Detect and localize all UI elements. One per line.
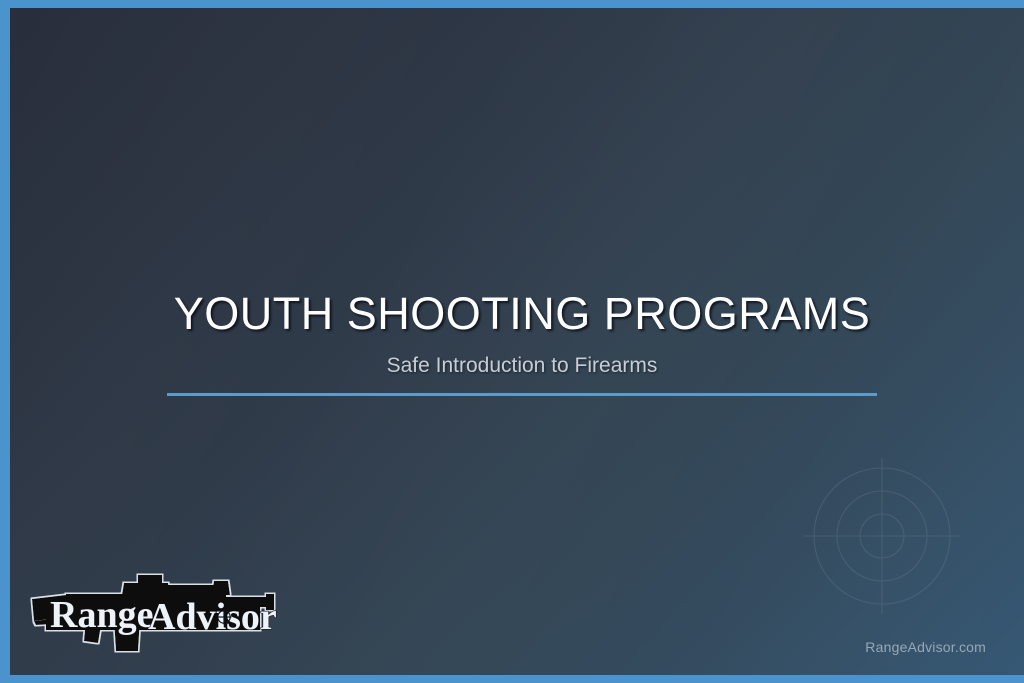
logo-wordmark-part2: Advisor — [148, 596, 277, 638]
logo-wordmark: Range Advisor — [50, 594, 277, 638]
presentation-slide: YOUTH SHOOTING PROGRAMS Safe Introductio… — [0, 0, 1024, 683]
title-block: YOUTH SHOOTING PROGRAMS Safe Introductio… — [157, 290, 887, 378]
accent-bar-top — [0, 0, 1024, 8]
slide-canvas: YOUTH SHOOTING PROGRAMS Safe Introductio… — [10, 8, 1024, 675]
page-title: YOUTH SHOOTING PROGRAMS — [157, 290, 887, 339]
title-divider-rule — [167, 393, 877, 396]
accent-bar-bottom — [0, 675, 1024, 683]
footer-website-url: RangeAdvisor.com — [865, 639, 986, 655]
logo-wordmark-part1: Range — [50, 594, 153, 636]
accent-bar-left — [0, 0, 10, 683]
rangeadvisor-logo: Range Advisor — [28, 565, 278, 657]
page-subtitle: Safe Introduction to Firearms — [157, 353, 887, 378]
target-reticle-icon — [794, 448, 970, 624]
